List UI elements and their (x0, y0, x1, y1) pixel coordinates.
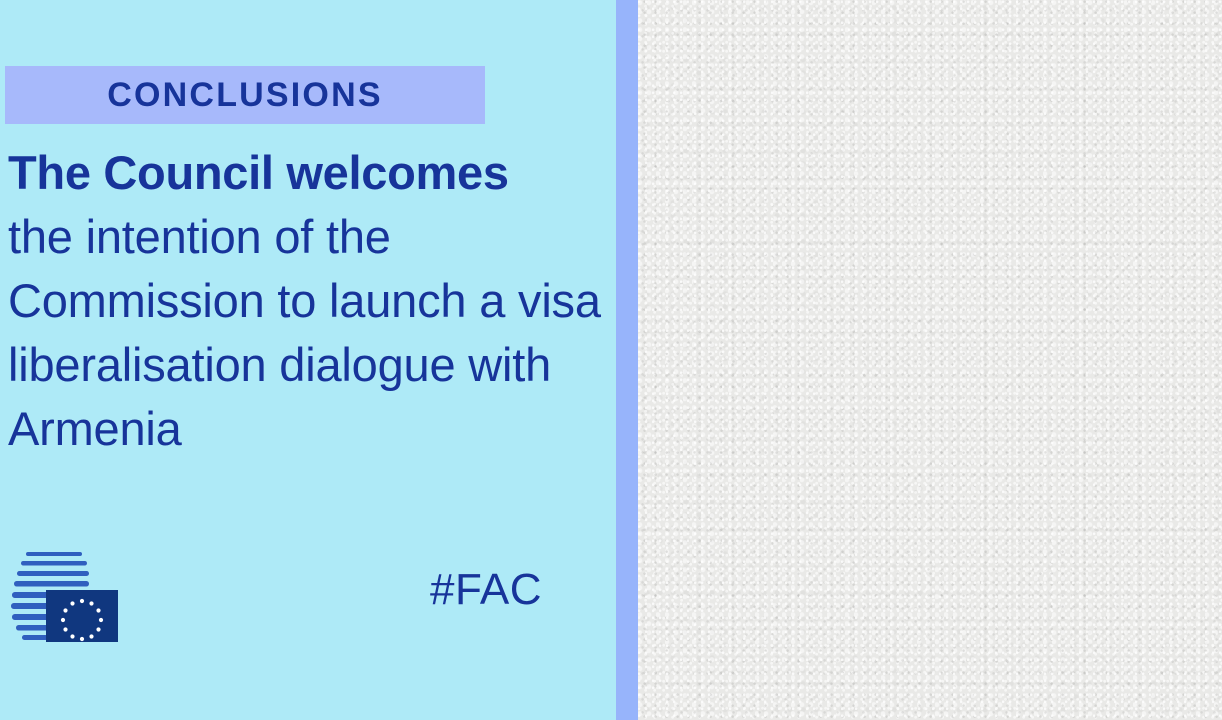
headline-rest: the intention of the Commission to launc… (8, 205, 608, 461)
paper-texture (638, 0, 1222, 720)
headline-lead: The Council welcomes (8, 141, 608, 205)
hashtag-label: #FAC (430, 565, 542, 615)
headline: The Council welcomes the intention of th… (8, 141, 608, 461)
divider-stripe (616, 0, 638, 720)
council-of-the-eu-logo (8, 548, 120, 648)
conclusions-banner: CONCLUSIONS (5, 66, 485, 124)
eu-flag (46, 590, 118, 642)
banner-label: CONCLUSIONS (107, 76, 382, 115)
logo-svg (8, 548, 120, 648)
social-card: CONCLUSIONS The Council welcomes the int… (0, 0, 1222, 720)
photo-panel (638, 0, 1222, 720)
